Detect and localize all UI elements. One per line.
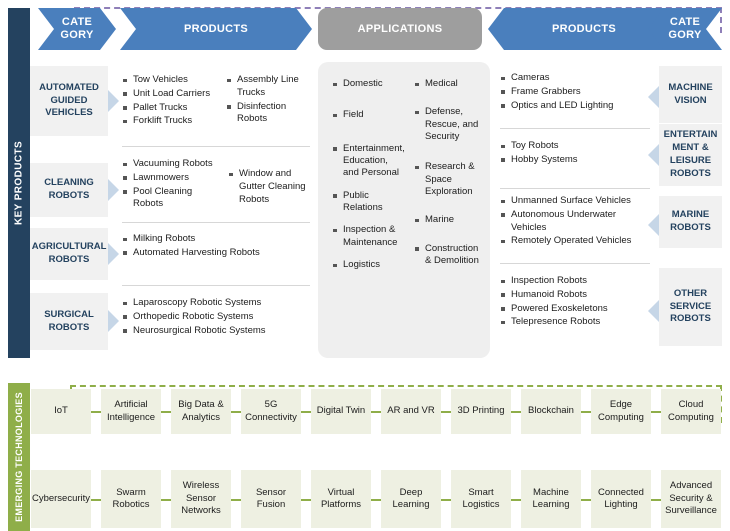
right-category-box-1[interactable]: ENTERTAIN MENT & LEISURE ROBOTS [659,124,722,186]
tech-box-row2-7[interactable]: Machine Learning [521,470,581,528]
right-products-group-1-list: Toy Robots Hobby Systems [500,140,652,167]
tech-box-row2-6[interactable]: Smart Logistics [451,470,511,528]
key-products-side-label: KEY PRODUCTS [14,141,25,225]
list-item: Orthopedic Robotic Systems [122,311,308,324]
header-applications-label: APPLICATIONS [358,23,443,36]
list-item: Inspection & Maintenance [332,224,406,249]
tech-box-row1-5[interactable]: AR and VR [381,389,441,434]
tech-box-row1-0[interactable]: IoT [31,389,91,434]
connector-row2-1 [161,499,171,503]
chevron-right-icon-3 [108,310,119,332]
left-category-label-2: AGRICULTURAL ROBOTS [32,241,107,267]
tech-box-row2-5[interactable]: Deep Learning [381,470,441,528]
tech-label-row1-8: Edge Computing [594,399,648,424]
list-item: Pallet Trucks [122,102,222,115]
list-item: Domestic [332,78,406,90]
left-products-group-2: Milking Robots Automated Harvesting Robo… [122,233,310,261]
chevron-right-icon-1 [108,179,119,201]
right-category-box-2[interactable]: MARINE ROBOTS [659,196,722,248]
list-item: Optics and LED Lighting [500,100,652,113]
divider-r2 [500,263,650,264]
list-item: Forklift Trucks [122,115,222,128]
left-category-box-3[interactable]: SURGICAL ROBOTS [30,293,108,350]
connector-row2-0 [91,499,101,503]
list-item: Hobby Systems [500,154,652,167]
connector-row1-4 [371,411,381,415]
connector-row2-8 [651,499,661,503]
header-applications[interactable]: APPLICATIONS [318,8,482,50]
divider-r0 [500,128,650,129]
connector-row1-7 [581,411,591,415]
list-item: Inspection Robots [500,275,652,288]
right-products-group-2-list: Unmanned Surface Vehicles Autonomous Und… [500,195,654,248]
connector-row2-2 [231,499,241,503]
left-products-group-1-col2: Window and Gutter Cleaning Robots [228,168,310,207]
right-category-label-3: OTHER SERVICE ROBOTS [663,288,718,326]
list-item: Entertainment, Education, and Personal [332,143,406,180]
list-item: Automated Harvesting Robots [122,247,272,260]
emerging-technologies-side-label: EMERGING TECHNOLOGIES [14,392,24,522]
list-item: Construction & Demolition [414,243,484,268]
right-category-box-0[interactable]: MACHINE VISION [659,66,722,123]
connector-row2-7 [581,499,591,503]
chevron-right-icon-2 [108,243,119,265]
connector-row2-6 [511,499,521,503]
tech-box-row2-0[interactable]: Cybersecurity [31,470,91,528]
tech-label-row1-1: Artificial Intelligence [104,399,158,424]
tech-label-row2-9: Advanced Security & Surveillance [664,480,718,517]
tech-label-row1-7: Blockchain [528,405,574,417]
list-item: Lawnmowers [122,172,224,185]
left-products-group-2-col1: Milking Robots Automated Harvesting Robo… [122,233,272,260]
list-item: Unit Load Carriers [122,88,222,101]
header-category-left[interactable]: CATE GORY [38,8,116,50]
list-item: Public Relations [332,190,406,215]
tech-label-row2-8: Connected Lighting [594,487,648,512]
tech-box-row1-2[interactable]: Big Data & Analytics [171,389,231,434]
right-category-label-1: ENTERTAIN MENT & LEISURE ROBOTS [663,129,718,180]
list-item: Marine [414,214,484,226]
right-category-box-3[interactable]: OTHER SERVICE ROBOTS [659,268,722,346]
list-item: Laparoscopy Robotic Systems [122,297,308,310]
left-category-box-0[interactable]: AUTOMATED GUIDED VEHICLES [30,66,108,136]
connector-row1-3 [301,411,311,415]
tech-box-row2-4[interactable]: Virtual Platforms [311,470,371,528]
left-products-group-0-col2: Assembly Line Trucks Disinfection Robots [226,74,306,127]
left-category-box-2[interactable]: AGRICULTURAL ROBOTS [30,228,108,280]
header-products-left-label: PRODUCTS [184,23,248,36]
tech-box-row2-1[interactable]: Swarm Robotics [101,470,161,528]
tech-box-row1-4[interactable]: Digital Twin [311,389,371,434]
list-item: Field [332,109,406,121]
tech-box-row2-9[interactable]: Advanced Security & Surveillance [661,470,721,528]
list-item: Window and Gutter Cleaning Robots [228,168,310,206]
right-products-group-0: Cameras Frame Grabbers Optics and LED Li… [500,72,652,113]
list-item: Cameras [500,72,652,85]
connector-row2-4 [371,499,381,503]
list-item: Pool Cleaning Robots [122,186,224,212]
list-item: Powered Exoskeletons [500,303,652,316]
list-item: Medical [414,78,484,90]
tech-label-row2-2: Wireless Sensor Networks [174,480,228,517]
tech-label-row1-0: IoT [54,405,68,417]
tech-label-row1-3: 5G Connectivity [244,399,298,424]
tech-label-row1-2: Big Data & Analytics [174,399,228,424]
list-item: Vacuuming Robots [122,158,224,171]
tech-box-row2-8[interactable]: Connected Lighting [591,470,651,528]
connector-row2-5 [441,499,451,503]
left-category-box-1[interactable]: CLEANING ROBOTS [30,163,108,217]
list-item: Unmanned Surface Vehicles [500,195,654,208]
list-item: Telepresence Robots [500,316,652,329]
connector-row1-2 [231,411,241,415]
list-item: Milking Robots [122,233,272,246]
tech-label-row1-5: AR and VR [387,405,435,417]
list-item: Assembly Line Trucks [226,74,306,100]
list-item: Disinfection Robots [226,101,306,127]
right-products-group-3-list: Inspection Robots Humanoid Robots Powere… [500,275,652,329]
chevron-right-icon-0 [108,90,119,112]
tech-label-row1-6: 3D Printing [458,405,505,417]
list-item: Research & Space Exploration [414,161,484,198]
list-item: Remotely Operated Vehicles [500,235,654,248]
divider-r1 [500,188,650,189]
list-item: Toy Robots [500,140,652,153]
right-products-group-0-list: Cameras Frame Grabbers Optics and LED Li… [500,72,652,112]
header-products-right-label: PRODUCTS [552,23,616,36]
right-products-group-1: Toy Robots Hobby Systems [500,140,652,168]
left-category-label-0: AUTOMATED GUIDED VEHICLES [34,82,104,120]
left-category-label-3: SURGICAL ROBOTS [34,309,104,335]
left-products-group-3-col1: Laparoscopy Robotic Systems Orthopedic R… [122,297,308,337]
list-item: Logistics [332,259,406,271]
tech-label-row1-9: Cloud Computing [664,399,718,424]
connector-row1-6 [511,411,521,415]
header-products-left[interactable]: PRODUCTS [120,8,312,50]
tech-label-row2-3: Sensor Fusion [244,487,298,512]
emerging-technologies-side-bar: EMERGING TECHNOLOGIES [8,383,30,531]
left-products-group-1-col1: Vacuuming Robots Lawnmowers Pool Cleanin… [122,158,224,212]
connector-row1-1 [161,411,171,415]
tech-label-row2-4: Virtual Platforms [314,487,368,512]
right-products-group-3: Inspection Robots Humanoid Robots Powere… [500,275,652,330]
key-products-side-bar: KEY PRODUCTS [8,8,30,358]
connector-row2-3 [301,499,311,503]
tech-label-row2-6: Smart Logistics [454,487,508,512]
list-item: Defense, Rescue, and Security [414,106,484,143]
tech-box-row2-3[interactable]: Sensor Fusion [241,470,301,528]
tech-box-row1-1[interactable]: Artificial Intelligence [101,389,161,434]
tech-label-row2-0: Cybersecurity [32,493,90,505]
divider-1 [122,222,310,223]
list-item: Autonomous Underwater Vehicles [500,209,654,235]
tech-box-row2-2[interactable]: Wireless Sensor Networks [171,470,231,528]
applications-col1: Domestic Field Entertainment, Education,… [332,78,406,271]
right-category-label-0: MACHINE VISION [663,82,718,108]
list-item: Tow Vehicles [122,74,222,87]
connector-row1-5 [441,411,451,415]
right-products-group-2: Unmanned Surface Vehicles Autonomous Und… [500,195,654,249]
applications-col2: Medical Defense, Rescue, and Security Re… [414,78,484,267]
connector-row1-8 [651,411,661,415]
right-category-label-2: MARINE ROBOTS [663,209,718,235]
tech-label-row1-4: Digital Twin [317,405,365,417]
applications-panel: Domestic Field Entertainment, Education,… [318,62,490,358]
left-products-group-0-col1: Tow Vehicles Unit Load Carriers Pallet T… [122,74,222,129]
tech-box-row1-8[interactable]: Edge Computing [591,389,651,434]
tech-box-row1-3[interactable]: 5G Connectivity [241,389,301,434]
tech-label-row2-1: Swarm Robotics [104,487,158,512]
connector-row1-0 [91,411,101,415]
list-item: Humanoid Robots [500,289,652,302]
tech-label-row2-5: Deep Learning [384,487,438,512]
divider-2 [122,285,310,286]
list-item: Neurosurgical Robotic Systems [122,325,308,338]
tech-box-row1-7[interactable]: Blockchain [521,389,581,434]
tech-label-row2-7: Machine Learning [524,487,578,512]
list-item: Frame Grabbers [500,86,652,99]
divider-0 [122,146,310,147]
tech-box-row1-9[interactable]: Cloud Computing [661,389,721,434]
left-products-group-3: Laparoscopy Robotic Systems Orthopedic R… [122,297,310,338]
header-category-right-label: CATE GORY [668,16,701,41]
tech-box-row1-6[interactable]: 3D Printing [451,389,511,434]
left-category-label-1: CLEANING ROBOTS [34,177,104,203]
header-category-left-label: CATE GORY [60,16,93,41]
